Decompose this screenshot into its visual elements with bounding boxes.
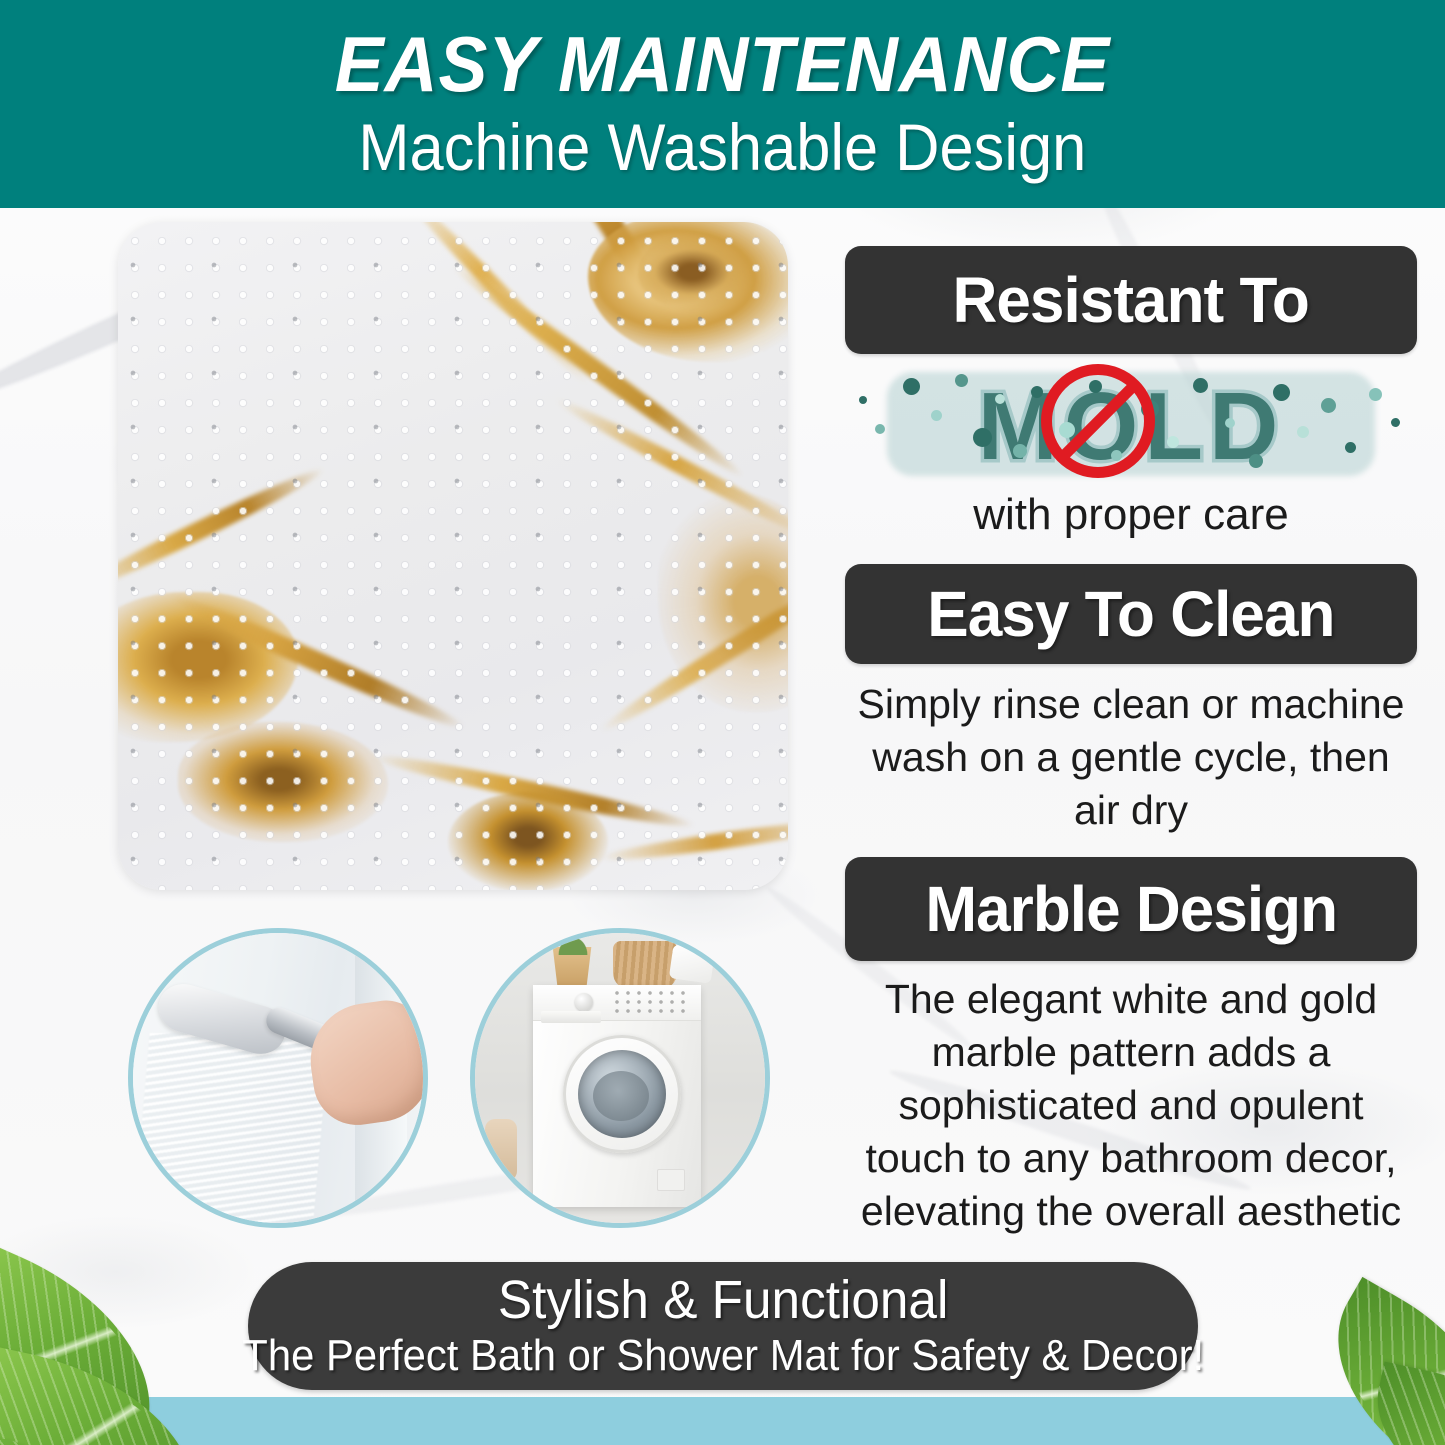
mold-prohibited-graphic: MOLD bbox=[845, 366, 1417, 488]
mold-spore bbox=[955, 374, 968, 387]
prohibition-icon bbox=[1041, 364, 1155, 478]
laundry-scene bbox=[475, 933, 765, 1223]
mold-spore bbox=[1273, 384, 1290, 401]
mold-spore bbox=[1321, 398, 1336, 413]
mold-spore bbox=[1391, 418, 1400, 427]
feature-mold-heading-pill: Resistant To bbox=[845, 246, 1417, 354]
mold-spore bbox=[1225, 418, 1235, 428]
mold-spore bbox=[1193, 378, 1208, 393]
feature-mold: Resistant To MOLD bbox=[845, 246, 1417, 540]
header-banner: EASY MAINTENANCE Machine Washable Design bbox=[0, 0, 1445, 208]
mold-spore bbox=[995, 394, 1005, 404]
feature-marble: Marble Design The elegant white and gold… bbox=[845, 857, 1417, 1238]
feature-marble-heading-pill: Marble Design bbox=[845, 857, 1417, 961]
mold-spore bbox=[859, 396, 867, 404]
rolled-towel bbox=[485, 1119, 517, 1181]
infographic-canvas: EASY MAINTENANCE Machine Washable Design bbox=[0, 0, 1445, 1445]
feature-clean-body: Simply rinse clean or machine wash on a … bbox=[845, 678, 1417, 837]
feature-clean-heading-pill: Easy To Clean bbox=[845, 564, 1417, 664]
washer-dial bbox=[575, 993, 593, 1011]
banner-line-2: The Perfect Bath or Shower Mat for Safet… bbox=[242, 1331, 1204, 1381]
shower-mat-surface bbox=[118, 222, 788, 890]
water-spray bbox=[132, 1033, 329, 1228]
mold-spore bbox=[1345, 442, 1356, 453]
mold-spore bbox=[1031, 386, 1043, 398]
plant-leaves bbox=[555, 933, 591, 955]
detergent-drawer bbox=[541, 1011, 601, 1023]
feature-marble-heading: Marble Design bbox=[925, 876, 1337, 942]
washer-buttons bbox=[615, 991, 689, 1015]
feature-marble-body: The elegant white and gold marble patter… bbox=[845, 973, 1417, 1238]
bottom-accent-bar bbox=[0, 1397, 1445, 1445]
mold-spore bbox=[1249, 454, 1263, 468]
feature-mold-heading: Resistant To bbox=[953, 267, 1309, 333]
washing-machine-photo bbox=[470, 928, 770, 1228]
feature-mold-caption: with proper care bbox=[845, 490, 1417, 540]
feature-list: Resistant To MOLD bbox=[845, 246, 1417, 1238]
shower-photo-scene bbox=[133, 933, 423, 1223]
mold-spore bbox=[931, 410, 942, 421]
washer-filter-hatch bbox=[657, 1169, 685, 1191]
banner-line-1: Stylish & Functional bbox=[498, 1271, 949, 1329]
product-image-shower-mat bbox=[118, 222, 788, 890]
bottom-banner: Stylish & Functional The Perfect Bath or… bbox=[248, 1262, 1198, 1390]
page-title: EASY MAINTENANCE bbox=[335, 22, 1110, 106]
feature-clean: Easy To Clean Simply rinse clean or mach… bbox=[845, 564, 1417, 837]
mold-spore bbox=[1013, 444, 1027, 458]
mold-spore bbox=[973, 428, 992, 447]
mold-spore bbox=[875, 424, 885, 434]
mold-spore bbox=[903, 378, 920, 395]
folded-towel bbox=[669, 944, 715, 984]
mold-spore bbox=[1297, 426, 1309, 438]
feature-clean-heading: Easy To Clean bbox=[927, 581, 1334, 647]
shower-head-rinse-photo bbox=[128, 928, 428, 1228]
washer-drum bbox=[593, 1071, 649, 1121]
page-subtitle: Machine Washable Design bbox=[359, 108, 1087, 186]
mold-spore bbox=[1167, 436, 1179, 448]
wicker-basket bbox=[613, 941, 677, 989]
mold-spore bbox=[1369, 388, 1382, 401]
drain-hole-grid bbox=[118, 222, 788, 890]
